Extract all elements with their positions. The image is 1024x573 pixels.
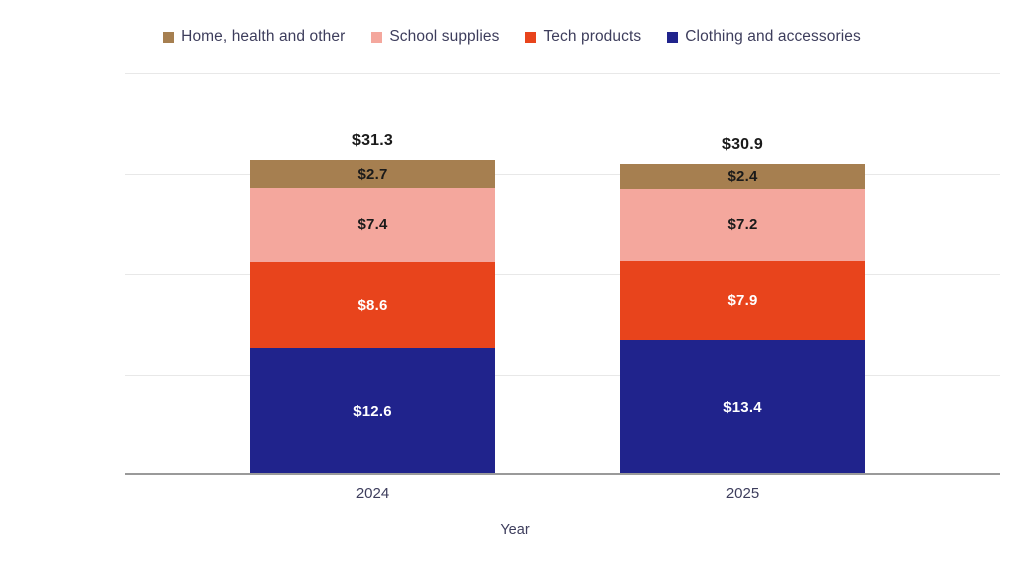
bar-segment[interactable]: $7.9 [620, 261, 865, 340]
legend-swatch-icon [667, 32, 678, 43]
legend-item-label: Home, health and other [181, 28, 345, 46]
legend-item[interactable]: Clothing and accessories [667, 28, 861, 46]
legend-item[interactable]: School supplies [371, 28, 499, 46]
legend-swatch-icon [525, 32, 536, 43]
legend-item[interactable]: Tech products [525, 28, 641, 46]
bar-segment[interactable]: $12.6 [250, 348, 495, 475]
bar-segment[interactable]: $13.4 [620, 340, 865, 475]
legend-item[interactable]: Home, health and other [163, 28, 345, 46]
bar-segment-value-label: $7.4 [358, 216, 388, 233]
legend-item-label: School supplies [389, 28, 499, 46]
bar-segment-value-label: $7.9 [728, 292, 758, 309]
bar-segment-value-label: $13.4 [723, 399, 762, 416]
legend-swatch-icon [163, 32, 174, 43]
y-axis-title: Total estimated back-to-school spending,… [0, 0, 40, 573]
bar-segment[interactable]: $8.6 [250, 262, 495, 348]
plot-area: $0.0$10.0$20.0$30.0$40.0 $12.6$8.6$7.4$2… [125, 73, 1000, 475]
bar-segment-value-label: $12.6 [353, 403, 392, 420]
bar-stack: $13.4$7.9$7.2$2.4 [620, 73, 865, 475]
bar-segment-value-label: $8.6 [358, 297, 388, 314]
bar-segment-value-label: $2.4 [728, 168, 758, 185]
x-axis-title: Year [120, 522, 910, 538]
legend-item-label: Tech products [543, 28, 641, 46]
x-axis-category-label: 2025 [620, 485, 865, 502]
bar-group[interactable]: $13.4$7.9$7.2$2.4$30.92025 [620, 73, 865, 475]
stacked-bar-chart: Home, health and otherSchool suppliesTec… [0, 0, 1024, 573]
legend-item-label: Clothing and accessories [685, 28, 861, 46]
bar-segment-value-label: $2.7 [358, 166, 388, 183]
bar-total-label: $31.3 [250, 132, 495, 150]
legend-swatch-icon [371, 32, 382, 43]
bar-segment[interactable]: $2.7 [250, 160, 495, 187]
bar-group[interactable]: $12.6$8.6$7.4$2.7$31.32024 [250, 73, 495, 475]
bar-segment[interactable]: $7.2 [620, 189, 865, 261]
bar-segment-value-label: $7.2 [728, 216, 758, 233]
bar-total-label: $30.9 [620, 136, 865, 154]
bar-segment[interactable]: $2.4 [620, 164, 865, 188]
chart-legend: Home, health and otherSchool suppliesTec… [0, 28, 1024, 46]
bar-segment[interactable]: $7.4 [250, 188, 495, 262]
axis-baseline [125, 473, 1000, 475]
x-axis-category-label: 2024 [250, 485, 495, 502]
